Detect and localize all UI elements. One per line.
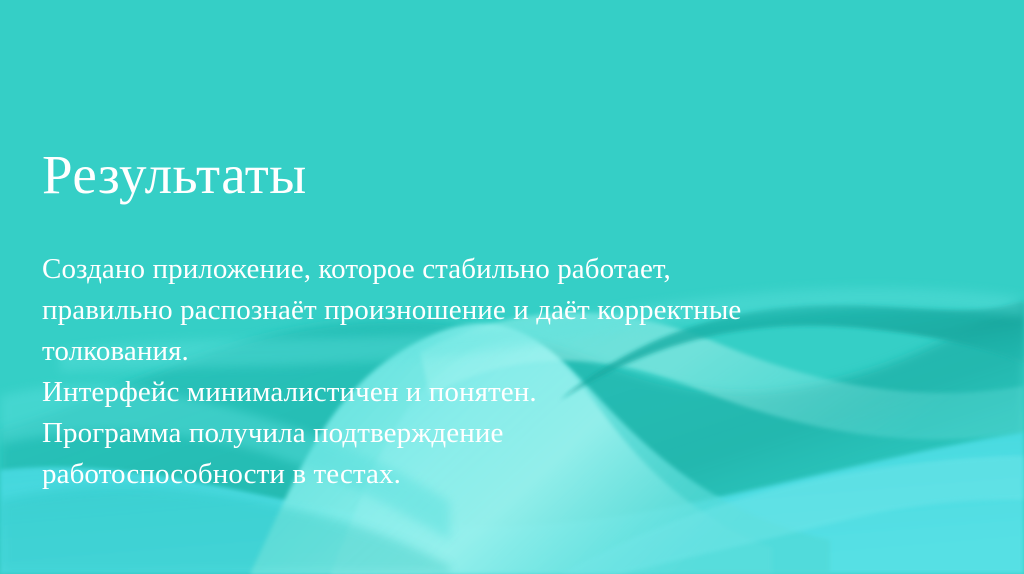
body-text-block: Создано приложение, которое стабильно ра…	[42, 249, 922, 495]
body-line: толкования.	[42, 331, 922, 372]
body-line: Создано приложение, которое стабильно ра…	[42, 249, 922, 290]
presentation-slide: Результаты Создано приложение, которое с…	[0, 0, 1024, 574]
body-line: Интерфейс минималистичен и понятен.	[42, 372, 922, 413]
body-line: работоспособности в тестах.	[42, 454, 922, 495]
body-line: правильно распознаёт произношение и даёт…	[42, 290, 922, 331]
page-title: Результаты	[42, 146, 307, 204]
body-line: Программа получила подтверждение	[42, 413, 922, 454]
slide-content: Результаты Создано приложение, которое с…	[42, 0, 962, 574]
